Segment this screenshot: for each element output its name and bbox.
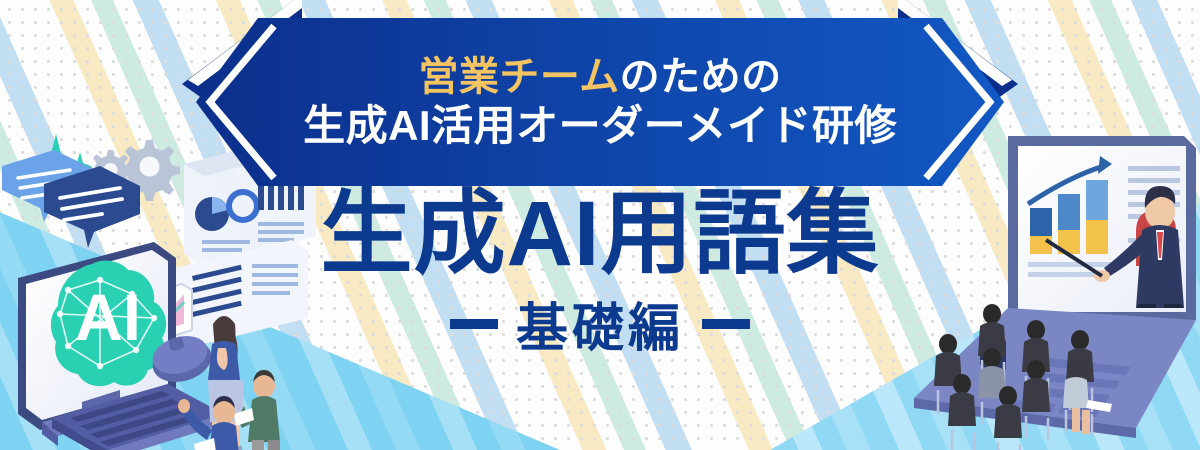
headline-banner: 営業チームのための 生成AI活用オーダーメイド研修 xyxy=(196,18,1004,186)
sub-title-dash-left-icon xyxy=(450,319,498,329)
sub-title-dash-right-icon xyxy=(702,319,750,329)
headline-gold-text: 営業チーム xyxy=(418,55,619,99)
headline-text-group: 営業チームのための 生成AI活用オーダーメイド研修 xyxy=(196,18,1004,186)
sub-title-row: 基礎編 xyxy=(300,286,900,361)
headline-line-1: 営業チームのための xyxy=(418,55,781,100)
sub-title-text: 基礎編 xyxy=(516,286,684,361)
main-title-block: 生成AI用語集 基礎編 xyxy=(300,188,900,361)
page-title: 生成AI用語集 xyxy=(300,188,900,280)
ai-label: AI xyxy=(75,280,141,354)
promo-banner: AI xyxy=(0,0,1200,450)
headline-white-text: のための xyxy=(620,55,782,99)
headline-line-2: 生成AI活用オーダーメイド研修 xyxy=(303,102,897,149)
